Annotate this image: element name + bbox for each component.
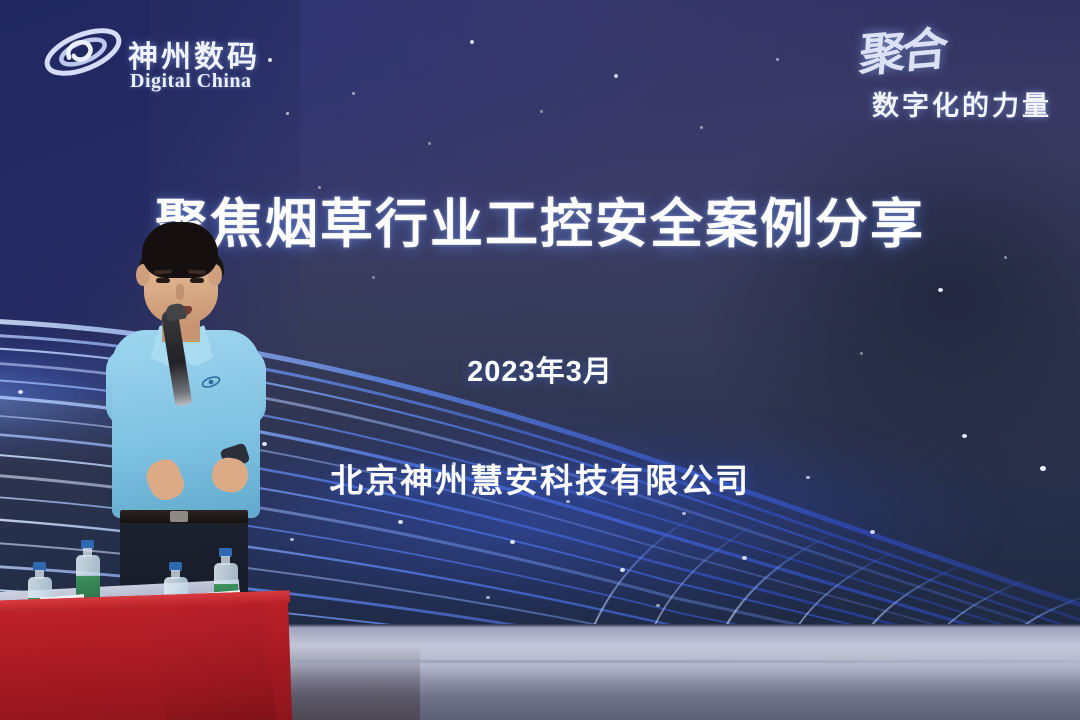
microphone-head (165, 303, 187, 322)
digital-china-logo: 神州数码 Digital China (42, 18, 312, 98)
stage-photo: 神州数码 Digital China 聚合 数字化的力量 聚焦烟草行业工控安全案… (0, 0, 1080, 720)
shirt-chest-logo-icon (200, 374, 222, 390)
presenter-hair (142, 222, 218, 278)
event-logo-tagline: 数字化的力量 (872, 84, 1052, 123)
presenter-eye-left (156, 278, 170, 283)
presenter-eye-right (190, 278, 204, 283)
presenter-belt-buckle (170, 511, 188, 522)
digital-china-english-name: Digital China (130, 70, 252, 93)
event-logo-calligraphy: 聚合 (857, 12, 947, 85)
head-table-cloth-fold (153, 602, 277, 720)
event-logo: 聚合 数字化的力量 (802, 12, 1062, 117)
presenter-nose (176, 284, 184, 300)
digital-china-swirl-icon (42, 22, 124, 82)
presenter (96, 222, 286, 642)
